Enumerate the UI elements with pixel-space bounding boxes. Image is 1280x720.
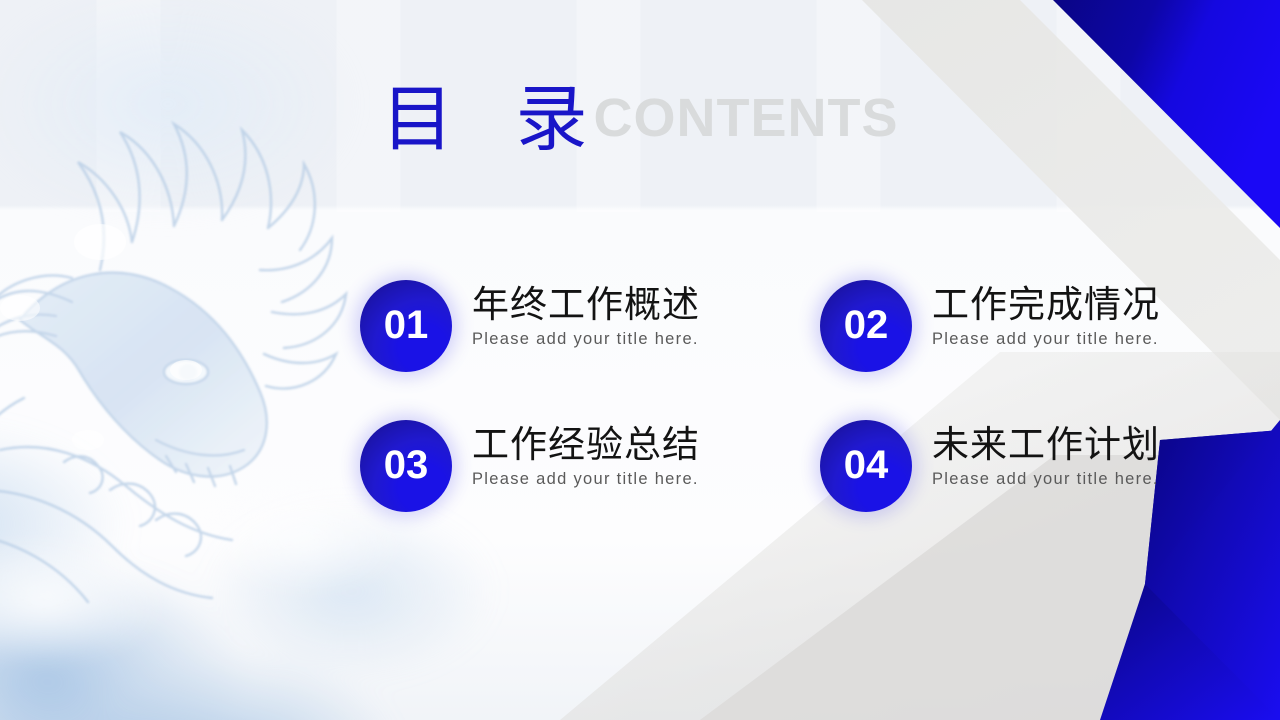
contents-item-text: 未来工作计划 Please add your title here. — [932, 420, 1160, 489]
number-badge-03[interactable]: 03 — [360, 420, 452, 512]
contents-item-02[interactable]: 02 工作完成情况 Please add your title here. — [820, 280, 1200, 420]
contents-item-subtitle: Please add your title here. — [932, 330, 1160, 349]
contents-item-title: 年终工作概述 — [472, 286, 700, 326]
contents-item-subtitle: Please add your title here. — [932, 470, 1160, 489]
number-badge-02[interactable]: 02 — [820, 280, 912, 372]
badge-number: 01 — [384, 305, 429, 345]
badge-number: 04 — [844, 445, 889, 485]
slide-title: 目 录CONTENTS — [0, 82, 1280, 154]
contents-item-03[interactable]: 03 工作经验总结 Please add your title here. — [360, 420, 820, 560]
badge-number: 02 — [844, 305, 889, 345]
contents-item-title: 工作完成情况 — [932, 286, 1160, 326]
page-title-en: CONTENTS — [594, 88, 899, 148]
contents-item-04[interactable]: 04 未来工作计划 Please add your title here. — [820, 420, 1200, 560]
contents-item-text: 年终工作概述 Please add your title here. — [472, 280, 700, 349]
contents-item-text: 工作经验总结 Please add your title here. — [472, 420, 700, 489]
number-badge-01[interactable]: 01 — [360, 280, 452, 372]
contents-item-01[interactable]: 01 年终工作概述 Please add your title here. — [360, 280, 820, 420]
contents-item-title: 工作经验总结 — [472, 426, 700, 466]
contents-item-subtitle: Please add your title here. — [472, 330, 700, 349]
badge-number: 03 — [384, 445, 429, 485]
number-badge-04[interactable]: 04 — [820, 420, 912, 512]
presentation-slide: 目 录CONTENTS 01 年终工作概述 Please add your ti… — [0, 0, 1280, 720]
contents-item-subtitle: Please add your title here. — [472, 470, 700, 489]
page-title-cn: 目 录 — [381, 80, 609, 160]
contents-list: 01 年终工作概述 Please add your title here. 02… — [360, 280, 1200, 560]
contents-item-text: 工作完成情况 Please add your title here. — [932, 280, 1160, 349]
contents-item-title: 未来工作计划 — [932, 426, 1160, 466]
